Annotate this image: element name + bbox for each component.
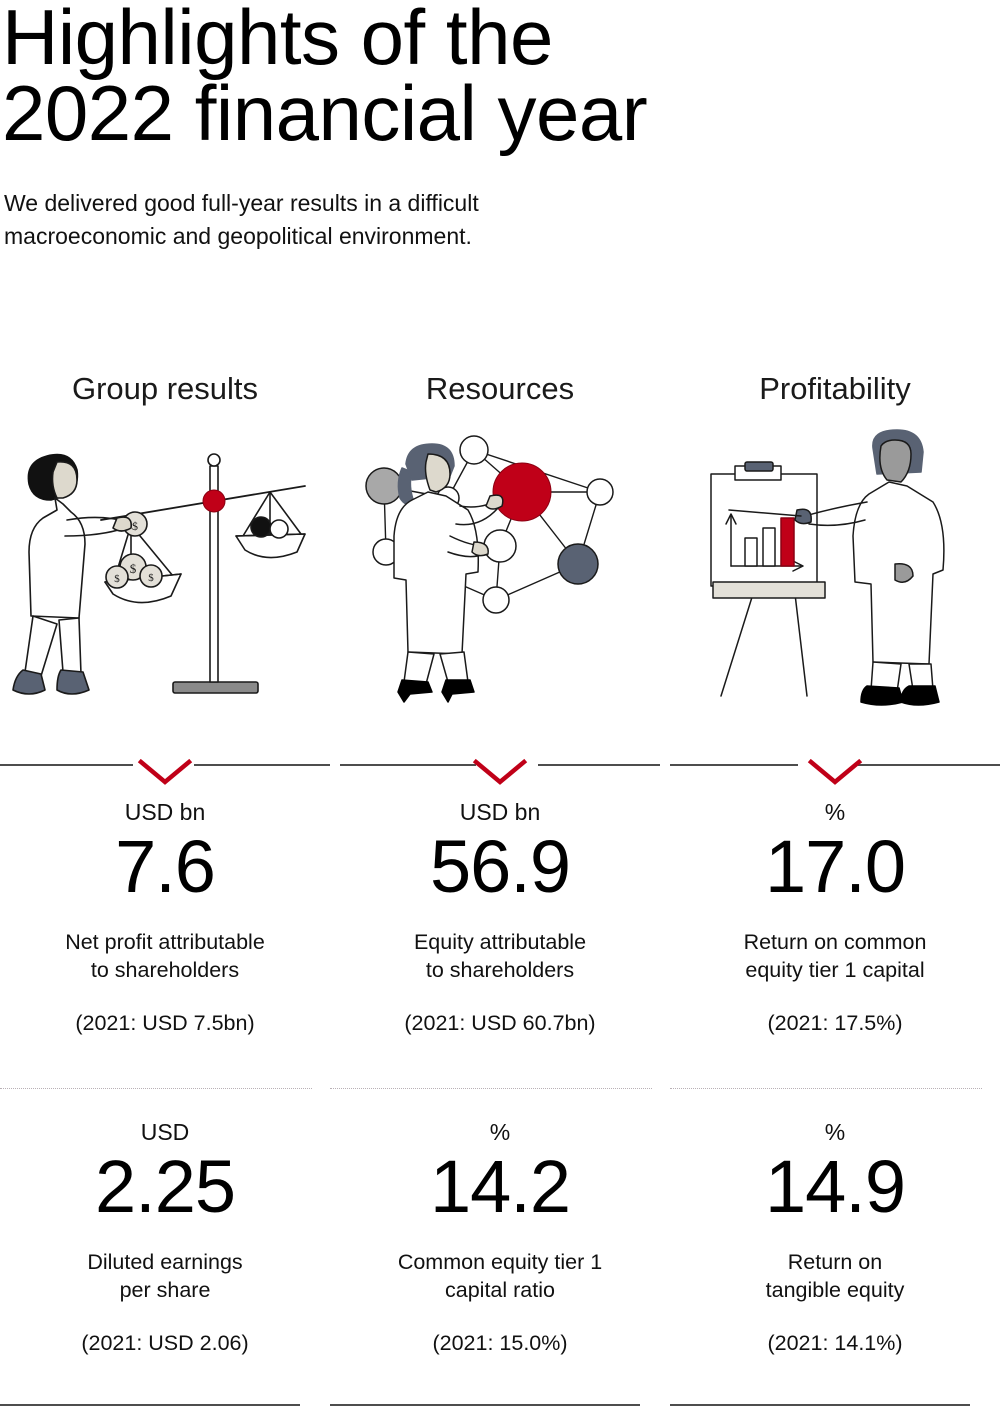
category-title-resources: Resources <box>330 372 670 424</box>
divider-rule-right <box>538 764 660 766</box>
kpi-unit: USD bn <box>10 800 320 828</box>
kpi-label: Net profit attributable to shareholders <box>10 928 320 986</box>
bottom-rule <box>0 1404 300 1406</box>
kpi-value: 17.0 <box>680 830 990 908</box>
kpi-cet1-capital-ratio: % 14.2 Common equity tier 1 capital rati… <box>330 1120 670 1358</box>
kpi-prior-year: (2021: USD 60.7bn) <box>340 1010 660 1038</box>
kpi-return-on-tangible-equity: % 14.9 Return on tangible equity (2021: … <box>670 1120 1000 1358</box>
page-subtitle: We delivered good full-year results in a… <box>0 151 604 252</box>
svg-text:$: $ <box>132 519 138 533</box>
chevron-down-icon <box>470 758 530 793</box>
dotted-separator-row <box>0 1088 1000 1090</box>
bottom-rule <box>670 1404 970 1406</box>
category-column-resources: Resources <box>330 372 670 714</box>
illustration-flipchart-presentation <box>670 424 1000 714</box>
kpi-value: 2.25 <box>10 1150 320 1228</box>
chevron-down-icon <box>135 758 195 793</box>
kpi-net-profit: USD bn 7.6 Net profit attributable to sh… <box>0 800 330 1038</box>
kpi-unit: USD bn <box>340 800 660 828</box>
kpi-unit: % <box>680 800 990 828</box>
kpi-row-2: USD 2.25 Diluted earnings per share (202… <box>0 1120 1000 1358</box>
kpi-diluted-eps: USD 2.25 Diluted earnings per share (202… <box>0 1120 330 1358</box>
dotted-separator <box>670 1088 982 1090</box>
chevron-divider-cell-2 <box>330 758 670 794</box>
kpi-value: 56.9 <box>340 830 660 908</box>
kpi-value: 14.9 <box>680 1150 990 1228</box>
divider-rule-right <box>858 764 1000 766</box>
kpi-row-1: USD bn 7.6 Net profit attributable to sh… <box>0 800 1000 1038</box>
divider-rule-right <box>194 764 330 766</box>
svg-text:$: $ <box>148 572 154 584</box>
kpi-prior-year: (2021: USD 7.5bn) <box>10 1010 320 1038</box>
divider-rule-left <box>340 764 476 766</box>
kpi-label: Return on common equity tier 1 capital <box>680 928 990 986</box>
chevron-down-icon <box>805 758 865 793</box>
illustration-network-nodes <box>330 424 670 714</box>
bottom-rule <box>330 1404 640 1406</box>
category-columns: Group results $ <box>0 372 1000 714</box>
kpi-unit: % <box>340 1120 660 1148</box>
dotted-separator <box>330 1088 652 1090</box>
kpi-unit: USD <box>10 1120 320 1148</box>
page-header: Highlights of the 2022 financial year We… <box>0 0 1000 253</box>
divider-rule-left <box>670 764 798 766</box>
bottom-rule-row <box>0 1404 1000 1406</box>
kpi-unit: % <box>680 1120 990 1148</box>
kpi-prior-year: (2021: 15.0%) <box>340 1330 660 1358</box>
kpi-label: Common equity tier 1 capital ratio <box>340 1248 660 1306</box>
kpi-prior-year: (2021: USD 2.06) <box>10 1330 320 1358</box>
dotted-separator <box>0 1088 312 1090</box>
kpi-equity-attributable: USD bn 56.9 Equity attributable to share… <box>330 800 670 1038</box>
category-column-profitability: Profitability <box>670 372 1000 714</box>
kpi-value: 7.6 <box>10 830 320 908</box>
kpi-label: Return on tangible equity <box>680 1248 990 1306</box>
kpi-label: Diluted earnings per share <box>10 1248 320 1306</box>
svg-text:$: $ <box>114 573 120 585</box>
category-title-profitability: Profitability <box>670 372 1000 424</box>
chevron-divider-cell-3 <box>670 758 1000 794</box>
category-title-group-results: Group results <box>0 372 330 424</box>
kpi-return-on-cet1: % 17.0 Return on common equity tier 1 ca… <box>670 800 1000 1038</box>
page-title: Highlights of the 2022 financial year <box>0 0 1000 151</box>
kpi-prior-year: (2021: 17.5%) <box>680 1010 990 1038</box>
chevron-divider-row <box>0 758 1000 794</box>
kpi-label: Equity attributable to shareholders <box>340 928 660 986</box>
kpi-value: 14.2 <box>340 1150 660 1228</box>
category-column-group-results: Group results $ <box>0 372 330 714</box>
divider-rule-left <box>0 764 133 766</box>
chevron-divider-cell-1 <box>0 758 330 794</box>
illustration-balance-scale: $ $ $ $ <box>0 424 330 714</box>
svg-text:$: $ <box>130 561 137 576</box>
kpi-prior-year: (2021: 14.1%) <box>680 1330 990 1358</box>
